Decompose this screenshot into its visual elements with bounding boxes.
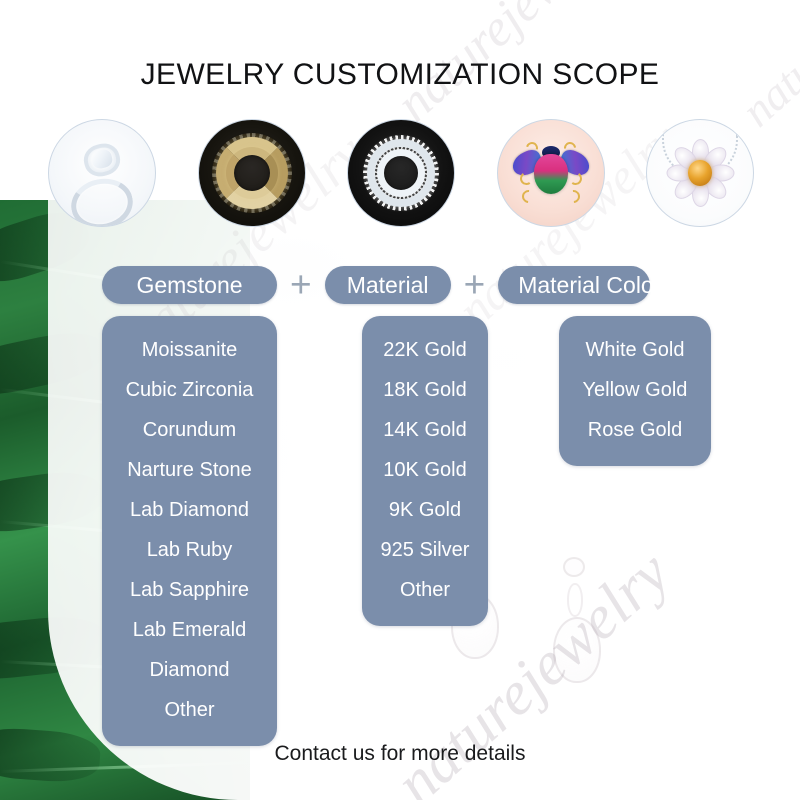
list-item[interactable]: Narture Stone [102, 450, 277, 490]
thumbnail-gold-cuban-chain[interactable] [198, 119, 306, 227]
list-item[interactable]: Other [102, 690, 277, 730]
customization-options: Gemstone + Material + Material Color Moi… [96, 266, 716, 746]
list-item[interactable]: Rose Gold [559, 410, 711, 450]
list-item[interactable]: 18K Gold [362, 370, 488, 410]
list-item[interactable]: 14K Gold [362, 410, 488, 450]
beetle-body [534, 154, 568, 194]
column-header-material[interactable]: Material [325, 266, 451, 304]
list-item[interactable]: Other [362, 570, 488, 610]
thumbnail-flower-pendant-necklace[interactable] [646, 119, 754, 227]
page-title: JEWELRY CUSTOMIZATION SCOPE [0, 58, 800, 92]
column-body-row: Moissanite Cubic Zirconia Corundum Nartu… [96, 316, 716, 746]
list-item[interactable]: 22K Gold [362, 330, 488, 370]
option-list-material-color: White Gold Yellow Gold Rose Gold [559, 316, 711, 466]
list-item[interactable]: 9K Gold [362, 490, 488, 530]
list-item[interactable]: Lab Diamond [102, 490, 277, 530]
column-header-gemstone[interactable]: Gemstone [102, 266, 277, 304]
column-header-material-color[interactable]: Material Color [498, 266, 650, 304]
list-item[interactable]: Cubic Zirconia [102, 370, 277, 410]
thumbnail-halo-diamond-ring[interactable] [48, 119, 156, 227]
flower-center-amber-stone [688, 160, 712, 186]
beetle-leg-right-lower [564, 187, 582, 205]
list-item[interactable]: Moissanite [102, 330, 277, 370]
option-list-material: 22K Gold 18K Gold 14K Gold 10K Gold 9K G… [362, 316, 488, 626]
beetle-leg-right-upper [567, 171, 582, 186]
list-item[interactable]: 10K Gold [362, 450, 488, 490]
infographic-canvas: naturejewelry naturejewelry naturejewelr… [0, 0, 800, 800]
list-item[interactable]: Yellow Gold [559, 370, 711, 410]
product-thumbnail-row [48, 118, 754, 228]
thumbnail-gem-beetle-brooch[interactable] [497, 119, 605, 227]
plus-separator-icon: + [451, 266, 499, 304]
tennis-chain-inner-loop [377, 149, 425, 197]
list-item[interactable]: Corundum [102, 410, 277, 450]
list-item[interactable]: White Gold [559, 330, 711, 370]
thumbnail-silver-tennis-chain[interactable] [347, 119, 455, 227]
beetle-leg-left-upper [518, 171, 533, 186]
plus-separator-icon: + [277, 266, 325, 304]
cuban-chain-inner-loop [226, 147, 278, 199]
beetle-leg-left-lower [519, 187, 537, 205]
list-item[interactable]: Diamond [102, 650, 277, 690]
list-item[interactable]: Lab Sapphire [102, 570, 277, 610]
option-list-gemstone: Moissanite Cubic Zirconia Corundum Nartu… [102, 316, 277, 746]
list-item[interactable]: Lab Emerald [102, 610, 277, 650]
list-item[interactable]: Lab Ruby [102, 530, 277, 570]
column-header-row: Gemstone + Material + Material Color [96, 266, 716, 304]
list-item[interactable]: 925 Silver [362, 530, 488, 570]
footer-contact-text: Contact us for more details [0, 742, 800, 766]
ring-band-shape [66, 173, 137, 227]
